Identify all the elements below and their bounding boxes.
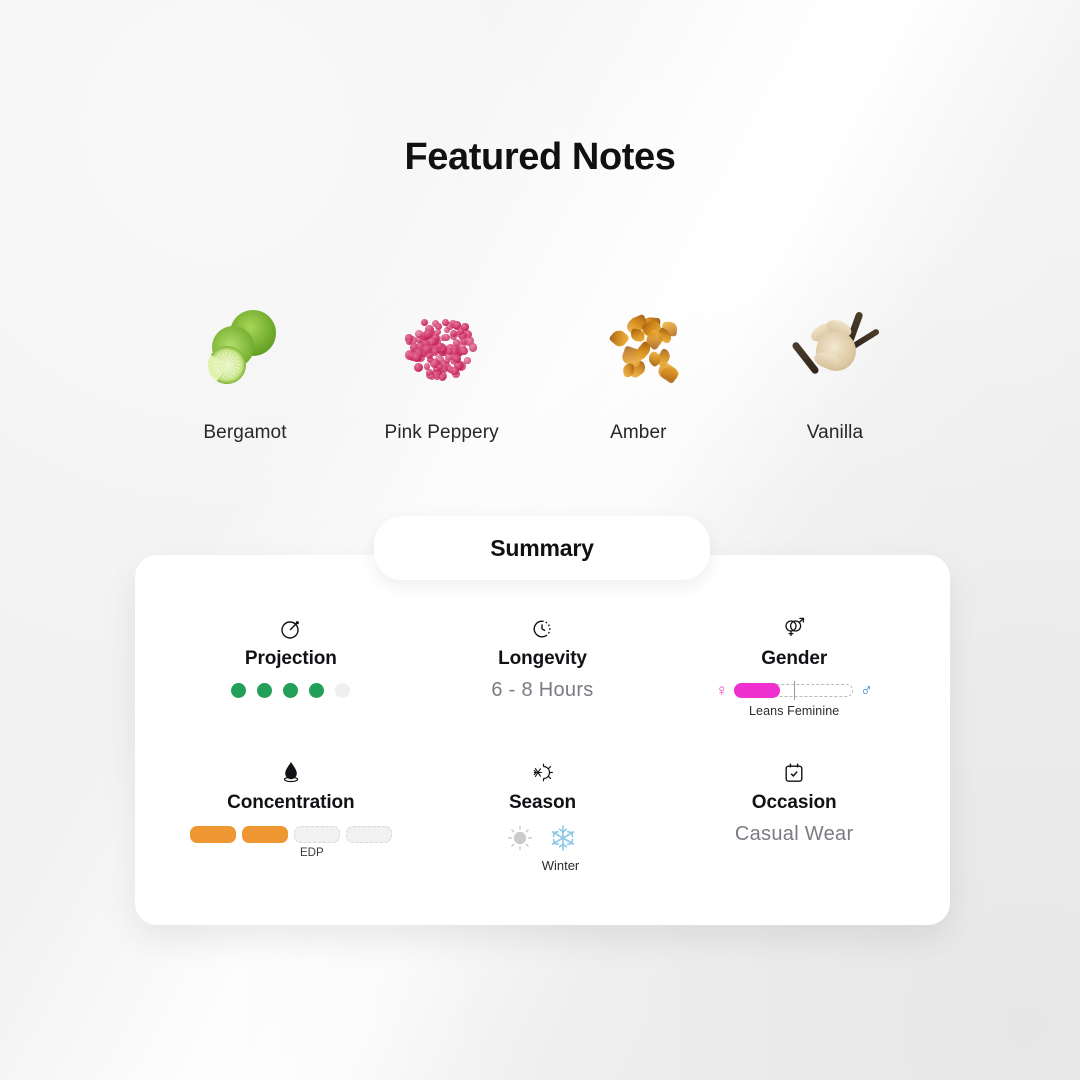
summary-pill-label: Summary xyxy=(490,535,593,562)
note-item-bergamot[interactable]: Bergamot xyxy=(150,296,340,444)
summary-card: Projection xyxy=(135,555,950,925)
summary-cell-season: Season xyxy=(417,755,669,895)
summary-cell-occasion: Occasion Casual Wear xyxy=(668,755,920,895)
projection-dot xyxy=(335,683,350,698)
sun-icon[interactable] xyxy=(507,825,533,851)
gender-slider-track[interactable] xyxy=(735,684,853,697)
summary-cell-longevity: Longevity 6 - 8 Hours xyxy=(417,611,669,751)
gender-value-label: Leans Feminine xyxy=(749,704,839,718)
gender-slider-fill xyxy=(735,684,779,697)
projection-dot xyxy=(231,683,246,698)
summary-cell-gender: Gender ♀ ♂ Leans Feminine xyxy=(668,611,920,751)
page-title: Featured Notes xyxy=(0,136,1080,179)
calendar-check-icon xyxy=(782,755,806,785)
note-label: Bergamot xyxy=(150,422,340,444)
gender-slider-center-tick xyxy=(794,681,795,700)
summary-cell-title: Occasion xyxy=(752,792,837,814)
season-options: Winter xyxy=(506,814,580,873)
summary-cell-title: Gender xyxy=(761,648,827,670)
summary-cell-title: Season xyxy=(509,792,576,814)
summary-cell-title: Longevity xyxy=(498,648,587,670)
projection-dots xyxy=(231,683,350,698)
summary-pill: Summary xyxy=(374,516,710,580)
note-item-vanilla[interactable]: Vanilla xyxy=(740,296,930,444)
summary-grid: Projection xyxy=(135,555,950,925)
projection-dot xyxy=(309,683,324,698)
note-label: Amber xyxy=(543,422,733,444)
longevity-value: 6 - 8 Hours xyxy=(491,679,593,702)
concentration-segment xyxy=(294,826,340,843)
venus-mars-icon xyxy=(781,611,807,641)
summary-cell-concentration: Concentration EDP xyxy=(165,755,417,895)
venus-icon: ♀ xyxy=(715,682,728,699)
amber-icon xyxy=(543,296,733,400)
snowflake-icon[interactable] xyxy=(549,824,577,852)
occasion-value: Casual Wear xyxy=(735,823,854,846)
note-item-pink-peppery[interactable]: Pink Peppery xyxy=(347,296,537,444)
summary-cell-title: Projection xyxy=(245,648,337,670)
concentration-segments xyxy=(190,826,392,843)
vanilla-icon xyxy=(740,296,930,400)
mars-icon: ♂ xyxy=(860,682,873,699)
pink-peppercorn-icon xyxy=(347,296,537,400)
concentration-meter: EDP xyxy=(190,814,392,859)
season-value-label: Winter xyxy=(506,858,580,873)
concentration-segment xyxy=(346,826,392,843)
sun-snowflake-icon xyxy=(530,755,554,785)
projection-dot xyxy=(283,683,298,698)
summary-cell-title: Concentration xyxy=(227,792,354,814)
featured-notes-row: Bergamot Pink Peppery Amber xyxy=(150,296,930,444)
concentration-segment xyxy=(242,826,288,843)
bergamot-icon xyxy=(150,296,340,400)
note-item-amber[interactable]: Amber xyxy=(543,296,733,444)
concentration-segment xyxy=(190,826,236,843)
gauge-icon xyxy=(279,611,303,641)
water-drop-icon xyxy=(280,755,302,785)
summary-cell-projection: Projection xyxy=(165,611,417,751)
clock-icon xyxy=(530,611,554,641)
note-label: Vanilla xyxy=(740,422,930,444)
page-root: Featured Notes Bergamot Pink Peppery xyxy=(0,0,1080,1080)
projection-dot xyxy=(257,683,272,698)
note-label: Pink Peppery xyxy=(347,422,537,444)
gender-slider[interactable]: ♀ ♂ xyxy=(715,682,873,699)
concentration-value-label: EDP xyxy=(190,847,392,859)
